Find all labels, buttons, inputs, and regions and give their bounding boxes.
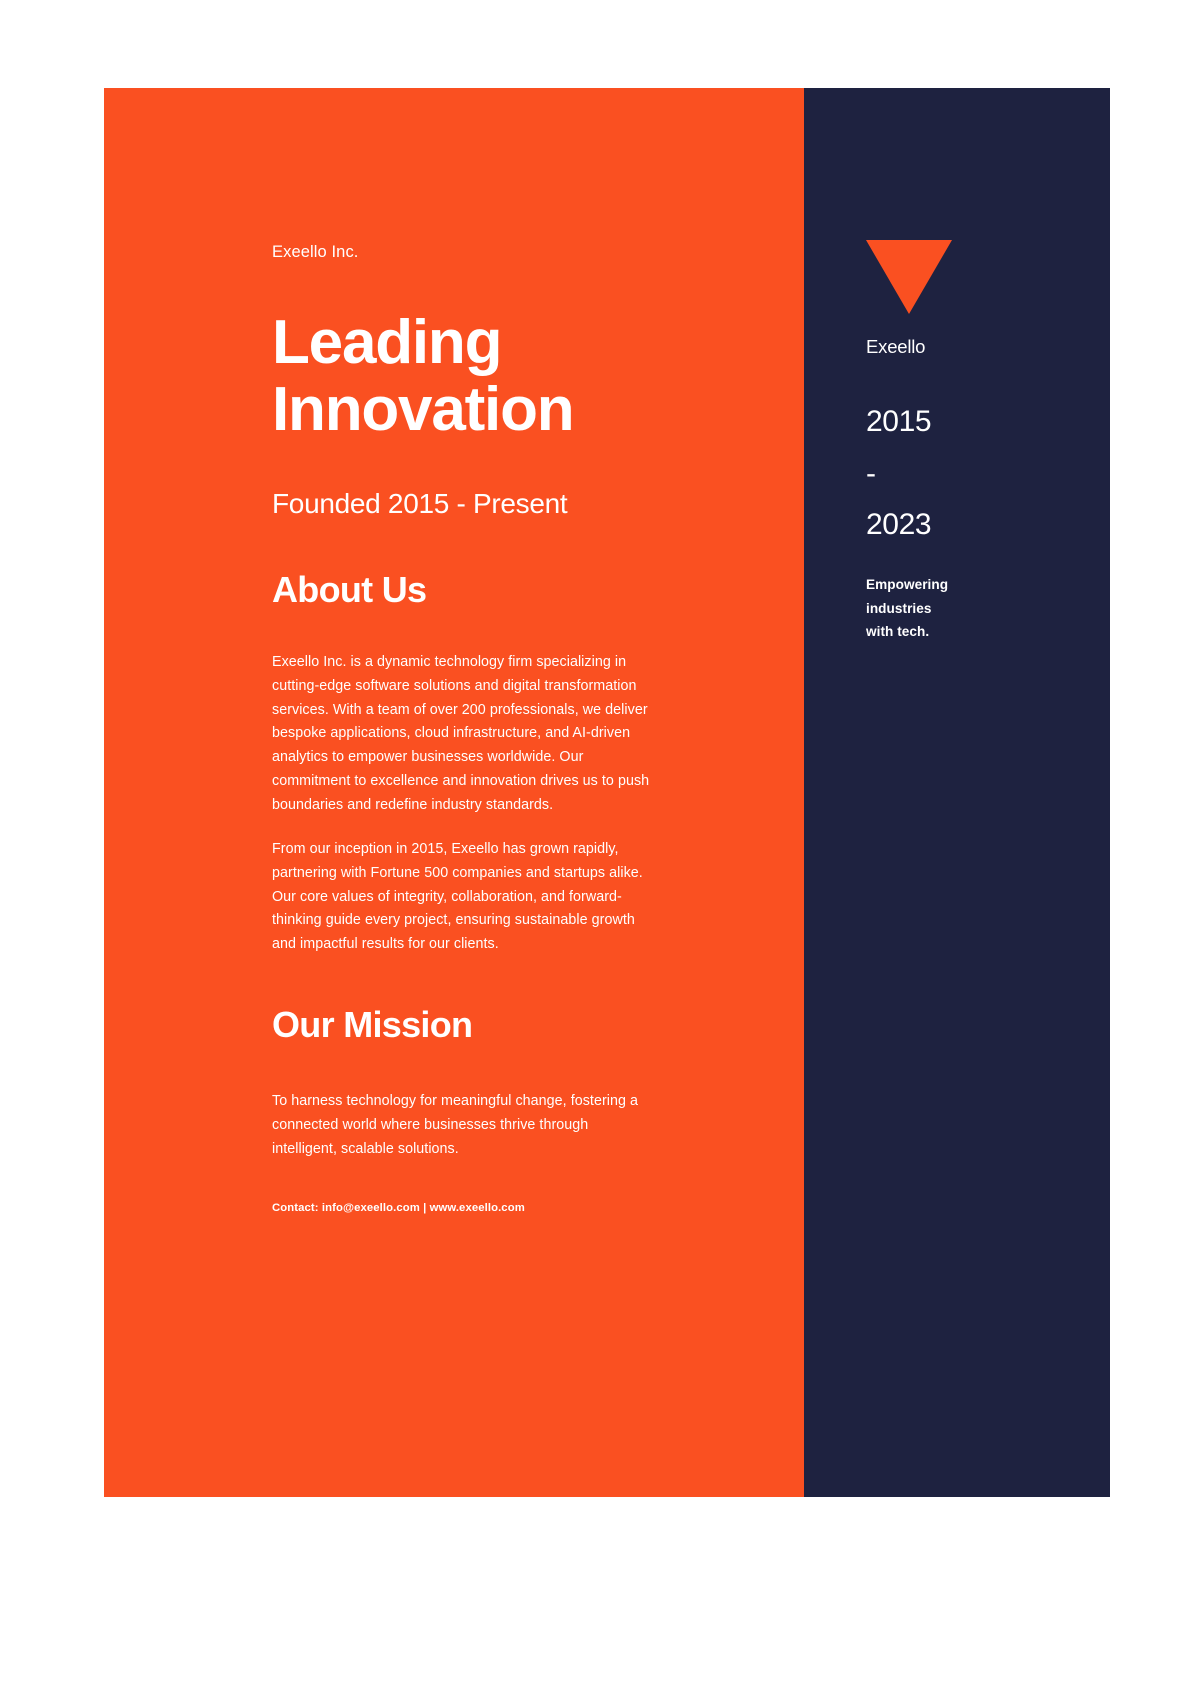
year-separator: - [866,448,1046,500]
sidebar-panel: Exeello 2015 - 2023 Empowering industrie… [804,88,1110,1497]
company-eyebrow: Exeello Inc. [272,243,652,262]
tagline-line-3: with tech. [866,620,1046,644]
main-content-panel: Exeello Inc. Leading Innovation Founded … [104,88,804,1497]
mission-section-title: Our Mission [272,1005,652,1045]
tagline-line-1: Empowering [866,573,1046,597]
year-end: 2023 [866,499,1046,551]
tagline-line-2: industries [866,597,1046,621]
sidebar-content-column: Exeello 2015 - 2023 Empowering industrie… [866,240,1046,644]
page-title: Leading Innovation [272,310,652,444]
sidebar-tagline: Empowering industries with tech. [866,573,1046,644]
about-paragraph-2: From our inception in 2015, Exeello has … [272,838,652,957]
poster-page: Exeello Inc. Leading Innovation Founded … [0,0,1200,1697]
brand-name: Exeello [866,336,1046,358]
contact-info[interactable]: Contact: info@exeello.com | www.exeello.… [272,1202,652,1214]
main-content-column: Exeello Inc. Leading Innovation Founded … [272,243,652,1214]
year-start: 2015 [866,396,1046,448]
headline-line-2: Innovation [272,377,652,444]
about-section-title: About Us [272,570,652,610]
triangle-down-icon [866,240,952,314]
mission-paragraph: To harness technology for meaningful cha… [272,1090,652,1161]
about-paragraph-1: Exeello Inc. is a dynamic technology fir… [272,651,652,817]
year-range: 2015 - 2023 [866,396,1046,551]
headline-line-1: Leading [272,310,652,377]
subheadline: Founded 2015 - Present [272,484,652,524]
poster-canvas: Exeello Inc. Leading Innovation Founded … [104,88,1110,1497]
